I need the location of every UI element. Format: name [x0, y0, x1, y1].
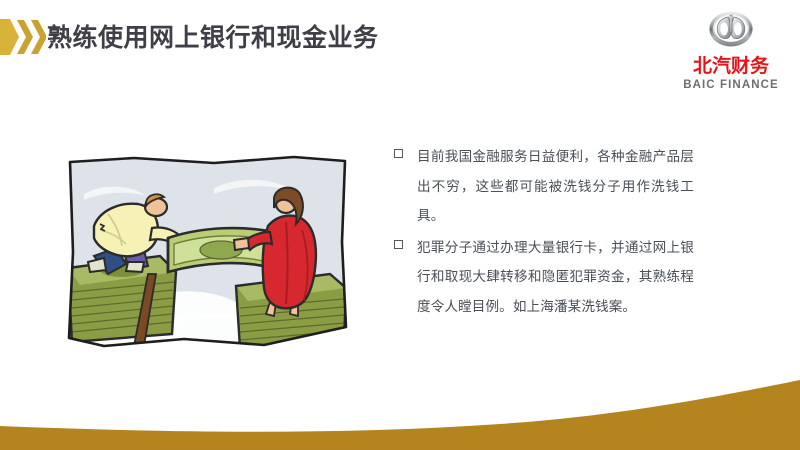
footer-swoosh-decoration [0, 380, 800, 450]
square-bullet-icon [394, 240, 403, 249]
brand-logo: 北汽财务 BAIC FINANCE [676, 6, 786, 98]
page-title: 熟练使用网上银行和现金业务 [47, 21, 379, 55]
bullet-list: 目前我国金融服务日益便利，各种金融产品层出不穷，这些都可能被洗钱分子用作洗钱工具… [394, 143, 694, 324]
baic-emblem-icon [708, 6, 754, 52]
bullet-text: 犯罪分子通过办理大量银行卡，并通过网上银行和取现大肆转移和隐匿犯罪资金，其熟练程… [417, 234, 694, 323]
slide-canvas: 熟练使用网上银行和现金业务 [0, 0, 800, 450]
logo-chinese-name: 北汽财务 [676, 56, 786, 77]
bullet-text: 目前我国金融服务日益便利，各种金融产品层出不穷，这些都可能被洗钱分子用作洗钱工具… [417, 143, 694, 232]
list-item: 目前我国金融服务日益便利，各种金融产品层出不穷，这些都可能被洗钱分子用作洗钱工具… [394, 143, 694, 232]
chevron-triple-icon [0, 17, 46, 57]
square-bullet-icon [394, 149, 403, 158]
money-exchange-illustration [64, 152, 350, 354]
slide-header: 熟练使用网上银行和现金业务 [0, 0, 800, 72]
list-item: 犯罪分子通过办理大量银行卡，并通过网上银行和取现大肆转移和隐匿犯罪资金，其熟练程… [394, 234, 694, 323]
logo-english-name: BAIC FINANCE [676, 79, 786, 91]
